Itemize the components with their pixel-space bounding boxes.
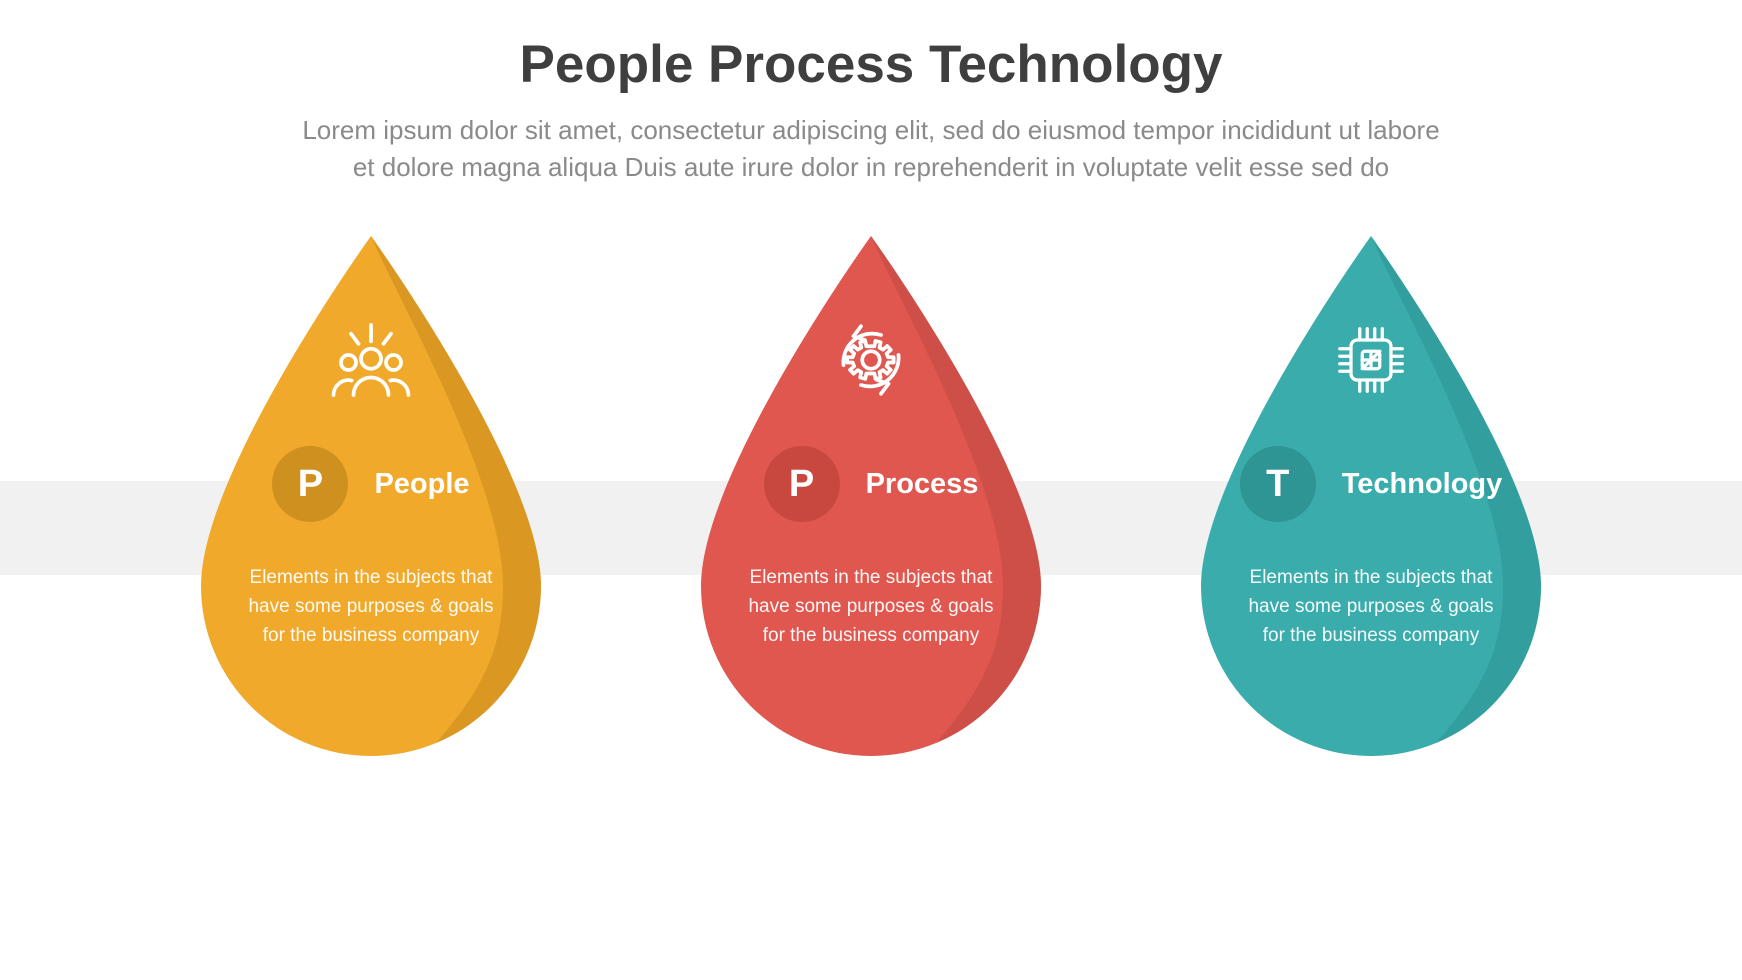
card-process[interactable]: P Process Elements in the subjects that …	[681, 236, 1061, 776]
desc-line-1: Elements in the subjects that	[216, 564, 526, 593]
badge-row-process: P Process	[701, 446, 1041, 522]
card-description-people: Elements in the subjects that have some …	[216, 564, 526, 651]
cards-row: P People Elements in the subjects that h…	[0, 236, 1742, 796]
card-description-process: Elements in the subjects that have some …	[716, 564, 1026, 651]
subtitle-line-2: et dolore magna aliqua Duis aute irure d…	[121, 149, 1621, 186]
card-content-technology: T Technology Elements in the subjects th…	[1181, 236, 1561, 776]
subtitle-line-1: Lorem ipsum dolor sit amet, consectetur …	[121, 112, 1621, 149]
desc-line-2: have some purposes & goals	[216, 593, 526, 622]
badge-row-technology: T Technology	[1201, 446, 1541, 522]
desc-line-1: Elements in the subjects that	[716, 564, 1026, 593]
desc-line-3: for the business company	[216, 622, 526, 651]
card-description-technology: Elements in the subjects that have some …	[1216, 564, 1526, 651]
people-group-icon	[331, 320, 411, 400]
header: People Process Technology Lorem ipsum do…	[0, 0, 1742, 186]
badge-people: P	[272, 446, 348, 522]
infographic-canvas: People Process Technology Lorem ipsum do…	[0, 0, 1742, 980]
desc-line-3: for the business company	[1216, 622, 1526, 651]
badge-row-people: P People	[201, 446, 541, 522]
card-people[interactable]: P People Elements in the subjects that h…	[181, 236, 561, 776]
card-label-process: Process	[866, 468, 979, 501]
page-title: People Process Technology	[0, 36, 1742, 94]
card-label-technology: Technology	[1342, 468, 1503, 501]
desc-line-2: have some purposes & goals	[716, 593, 1026, 622]
card-content-process: P Process Elements in the subjects that …	[681, 236, 1061, 776]
desc-line-2: have some purposes & goals	[1216, 593, 1526, 622]
desc-line-3: for the business company	[716, 622, 1026, 651]
badge-technology: T	[1240, 446, 1316, 522]
card-label-people: People	[374, 468, 469, 501]
page-subtitle: Lorem ipsum dolor sit amet, consectetur …	[121, 112, 1621, 186]
card-technology[interactable]: T Technology Elements in the subjects th…	[1181, 236, 1561, 776]
microchip-icon	[1331, 320, 1411, 400]
gear-cycle-icon	[831, 320, 911, 400]
card-content-people: P People Elements in the subjects that h…	[181, 236, 561, 776]
desc-line-1: Elements in the subjects that	[1216, 564, 1526, 593]
badge-process: P	[764, 446, 840, 522]
